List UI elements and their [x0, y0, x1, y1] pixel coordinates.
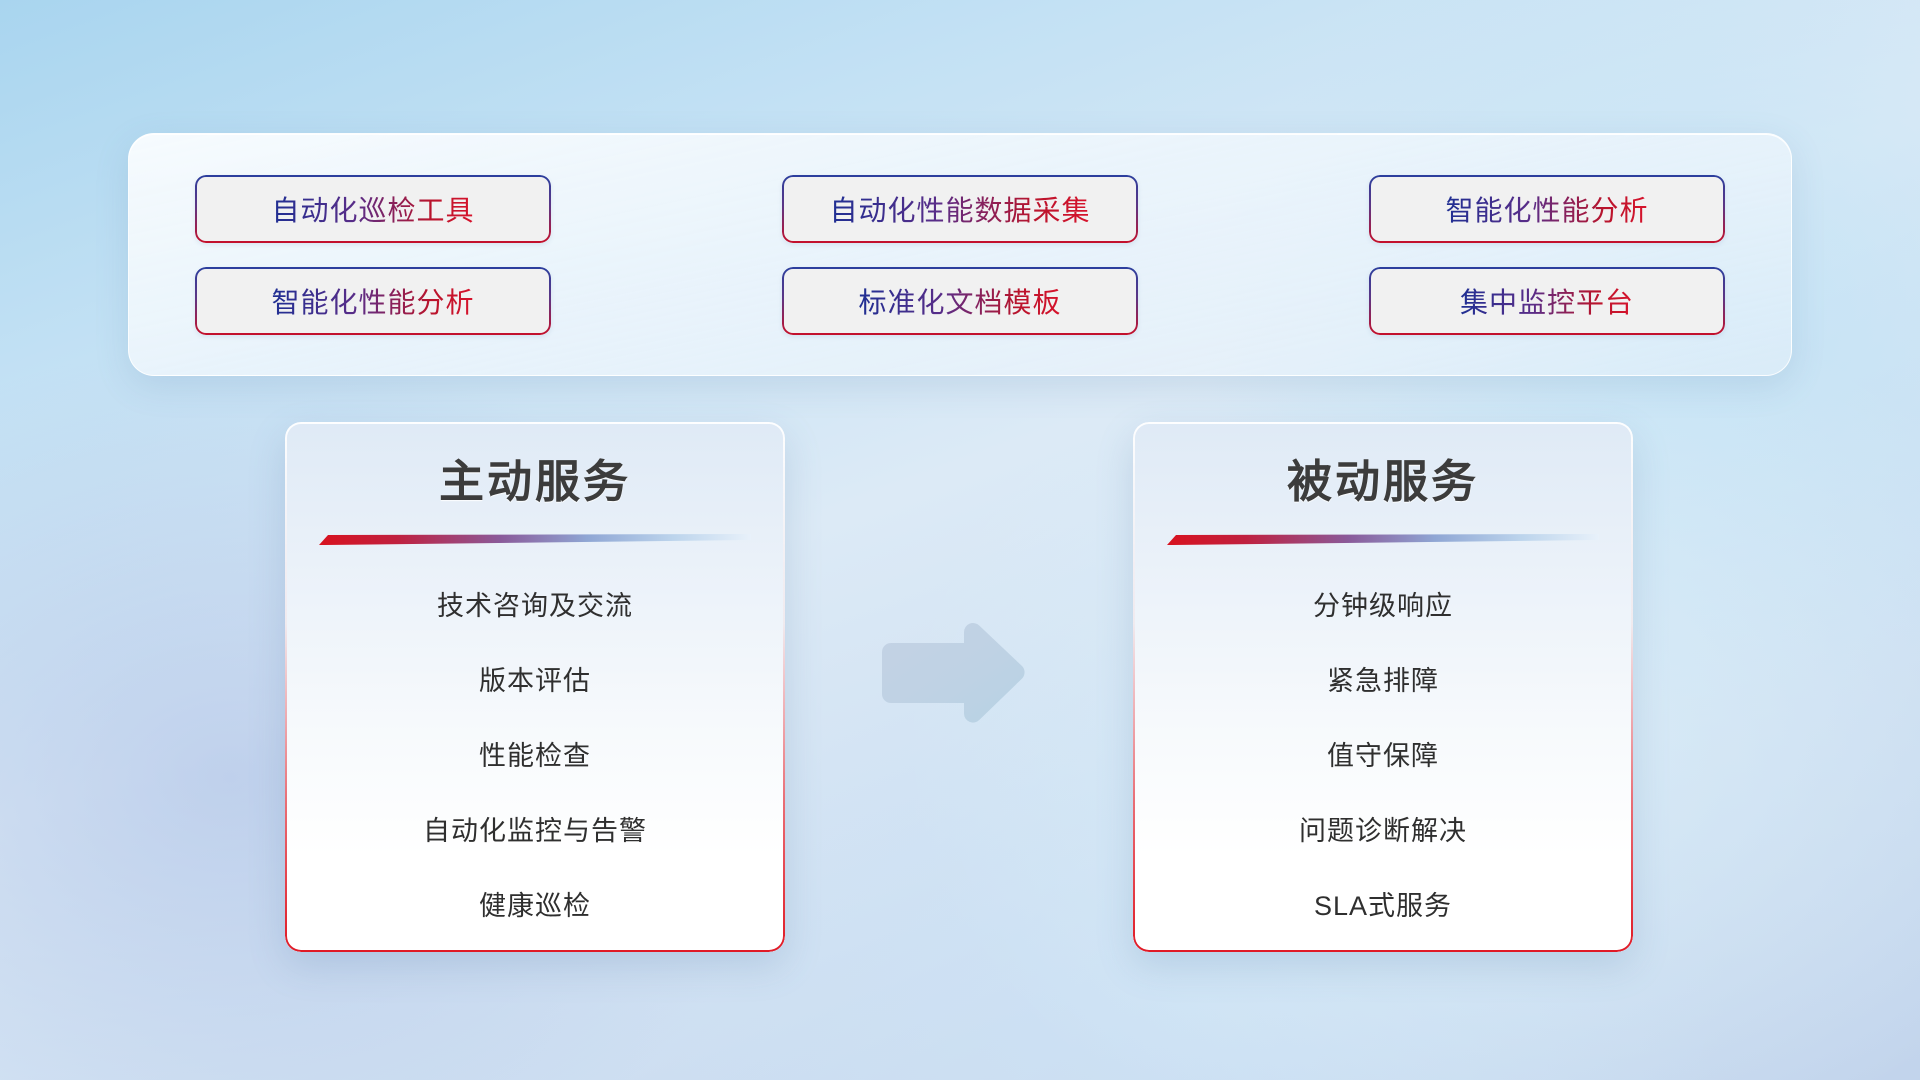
capability-pill-standard-doc-template[interactable]: 标准化文档模板 [782, 267, 1138, 335]
service-card-body: 主动服务 [285, 422, 785, 952]
capability-pill-label: 智能化性能分析 [271, 281, 474, 321]
gradient-divider-icon [319, 534, 751, 545]
capability-pill-intelligent-perf-analysis[interactable]: 智能化性能分析 [1369, 175, 1725, 243]
service-item[interactable]: 性能检查 [479, 729, 591, 784]
service-item[interactable]: 版本评估 [479, 654, 591, 709]
slide-canvas: 自动化巡检工具 自动化性能数据采集 智能化性能分析 智能化性能分析 标准化文档模… [0, 0, 1920, 1080]
arrow-right-icon [872, 618, 1028, 728]
service-item-list: 技术咨询及交流 版本评估 性能检查 自动化监控与告警 健康巡检 [315, 579, 755, 934]
capability-pill-label: 自动化巡检工具 [271, 189, 474, 229]
capability-pill-label: 标准化文档模板 [858, 281, 1061, 321]
service-item-list: 分钟级响应 紧急排障 值守保障 问题诊断解决 SLA式服务 [1163, 579, 1603, 934]
gradient-divider-icon [1167, 534, 1599, 545]
capability-pill-label: 集中监控平台 [1460, 281, 1634, 321]
service-card-title: 被动服务 [1287, 456, 1479, 508]
capability-pill-label: 智能化性能分析 [1445, 189, 1648, 229]
capability-row-2: 智能化性能分析 标准化文档模板 集中监控平台 [195, 267, 1725, 335]
service-item[interactable]: 问题诊断解决 [1299, 804, 1467, 859]
service-card-title: 主动服务 [439, 456, 631, 508]
title-divider-wrap [315, 534, 755, 545]
service-item[interactable]: 值守保障 [1327, 729, 1439, 784]
service-item[interactable]: 紧急排障 [1327, 654, 1439, 709]
service-item[interactable]: SLA式服务 [1314, 879, 1452, 934]
capability-pill-label: 自动化性能数据采集 [829, 189, 1090, 229]
service-card-body: 被动服务 [1133, 422, 1633, 952]
capability-pill-auto-perf-data-collection[interactable]: 自动化性能数据采集 [782, 175, 1138, 243]
service-card-reactive[interactable]: 被动服务 [1133, 422, 1633, 952]
service-item[interactable]: 分钟级响应 [1313, 579, 1453, 634]
capability-pill-intelligent-perf-analysis-2[interactable]: 智能化性能分析 [195, 267, 551, 335]
service-item[interactable]: 技术咨询及交流 [437, 579, 633, 634]
capability-pill-central-monitoring-platform[interactable]: 集中监控平台 [1369, 267, 1725, 335]
service-item[interactable]: 健康巡检 [479, 879, 591, 934]
capability-row-1: 自动化巡检工具 自动化性能数据采集 智能化性能分析 [195, 175, 1725, 243]
capability-pill-auto-inspection-tool[interactable]: 自动化巡检工具 [195, 175, 551, 243]
capabilities-panel: 自动化巡检工具 自动化性能数据采集 智能化性能分析 智能化性能分析 标准化文档模… [128, 133, 1792, 376]
service-item[interactable]: 自动化监控与告警 [423, 804, 647, 859]
title-divider-wrap [1163, 534, 1603, 545]
service-card-proactive[interactable]: 主动服务 [285, 422, 785, 952]
